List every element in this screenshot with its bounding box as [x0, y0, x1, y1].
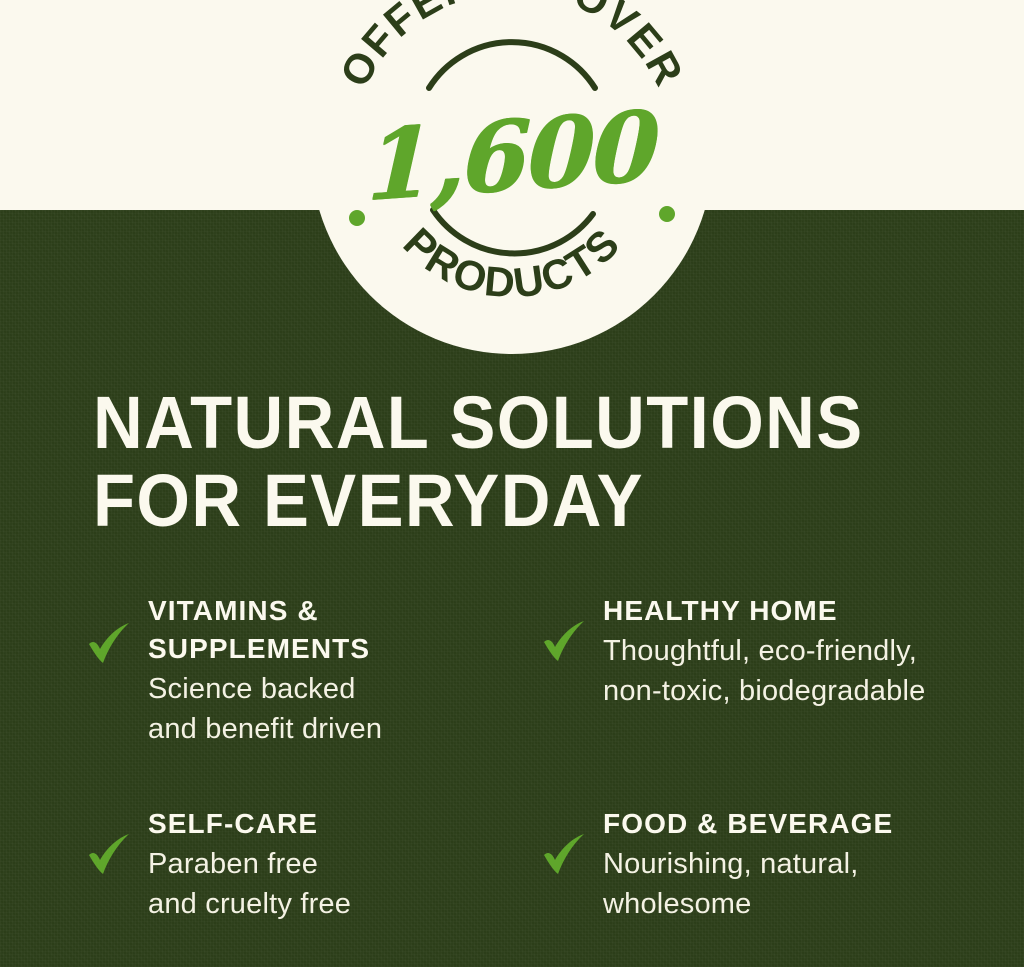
headline-line-1: NATURAL SOLUTIONS: [93, 384, 911, 462]
headline-line-2: FOR EVERYDAY: [93, 462, 911, 540]
feature-item-healthy-home: HEALTHY HOME Thoughtful, eco-friendly, n…: [541, 592, 986, 749]
feature-title-line: HEALTHY HOME: [603, 592, 986, 630]
feature-description: Nourishing, natural, wholesome: [603, 844, 986, 924]
badge-number: 1,600: [365, 88, 659, 222]
checkmark-icon: [541, 833, 587, 877]
badge-number-wrap: 1,600: [311, 0, 713, 354]
feature-title-line: SUPPLEMENTS: [148, 630, 541, 668]
feature-text: HEALTHY HOME Thoughtful, eco-friendly, n…: [603, 592, 986, 711]
feature-description: Science backed and benefit driven: [148, 669, 541, 749]
check-wrap: [86, 805, 148, 877]
feature-text: FOOD & BEVERAGE Nourishing, natural, who…: [603, 805, 986, 924]
feature-text: SELF-CARE Paraben free and cruelty free: [148, 805, 541, 924]
feature-title: VITAMINS & SUPPLEMENTS: [148, 592, 541, 668]
promo-poster: OFFERING OVER PRODUCTS 1,600 NATURAL SOL…: [0, 0, 1024, 967]
feature-item-vitamins-supplements: VITAMINS & SUPPLEMENTS Science backed an…: [86, 592, 541, 749]
feature-title: HEALTHY HOME: [603, 592, 986, 630]
feature-item-self-care: SELF-CARE Paraben free and cruelty free: [86, 805, 541, 924]
checkmark-icon: [541, 620, 587, 664]
feature-title-line: SELF-CARE: [148, 805, 541, 843]
check-wrap: [541, 592, 603, 664]
feature-title: FOOD & BEVERAGE: [603, 805, 986, 843]
check-wrap: [541, 805, 603, 877]
feature-desc-line: and cruelty free: [148, 884, 541, 924]
checkmark-icon: [86, 622, 132, 666]
page-title: NATURAL SOLUTIONS FOR EVERYDAY: [93, 384, 973, 540]
feature-desc-line: Paraben free: [148, 844, 541, 884]
feature-desc-line: Thoughtful, eco-friendly,: [603, 631, 986, 671]
feature-desc-line: and benefit driven: [148, 709, 541, 749]
feature-desc-line: Nourishing, natural,: [603, 844, 986, 884]
feature-desc-line: wholesome: [603, 884, 986, 924]
feature-list: VITAMINS & SUPPLEMENTS Science backed an…: [86, 592, 986, 924]
feature-description: Paraben free and cruelty free: [148, 844, 541, 924]
feature-title-line: FOOD & BEVERAGE: [603, 805, 986, 843]
feature-description: Thoughtful, eco-friendly, non-toxic, bio…: [603, 631, 986, 711]
feature-desc-line: Science backed: [148, 669, 541, 709]
feature-title-line: VITAMINS &: [148, 592, 541, 630]
checkmark-icon: [86, 833, 132, 877]
feature-text: VITAMINS & SUPPLEMENTS Science backed an…: [148, 592, 541, 749]
feature-item-food-beverage: FOOD & BEVERAGE Nourishing, natural, who…: [541, 805, 986, 924]
feature-title: SELF-CARE: [148, 805, 541, 843]
feature-desc-line: non-toxic, biodegradable: [603, 671, 986, 711]
check-wrap: [86, 592, 148, 666]
